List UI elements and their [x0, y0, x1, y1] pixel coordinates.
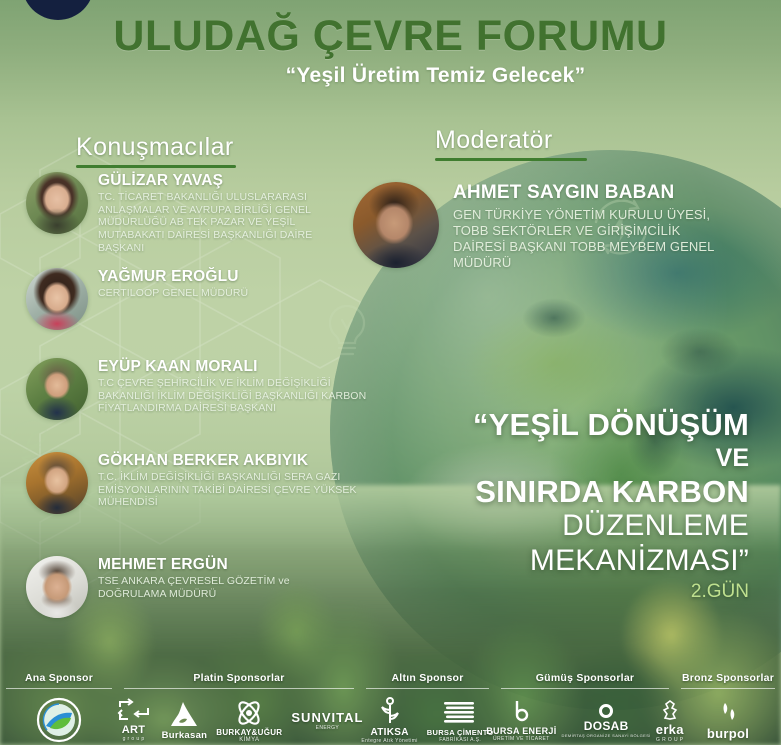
sponsor-name: burpol [707, 726, 749, 741]
speaker-name: YAĞMUR EROĞLU [98, 268, 248, 286]
sponsor-name: Burkasan [162, 730, 208, 741]
sponsor-logo-burkasan: Burkasan [162, 700, 208, 741]
avatar [26, 452, 88, 514]
divider [366, 688, 489, 689]
theme-line-3: SINIRDA KARBON [419, 474, 749, 509]
list-item: MEHMET ERGÜN TSE ANKARA ÇEVRESEL GÖZETİM… [26, 556, 356, 618]
avatar [353, 182, 439, 268]
forum-theme-block: “YEŞİL DÖNÜŞÜM VE SINIRDA KARBON DÜZENLE… [419, 408, 749, 603]
sponsor-sub: KİMYA [239, 737, 259, 743]
moderator-heading: Moderatör [435, 126, 587, 161]
page-title: ULUDAĞ ÇEVRE FORUMU [0, 14, 781, 59]
sponsor-logo-en-yesil-cevre [36, 697, 82, 743]
speaker-title: TSE ANKARA ÇEVRESEL GÖZETİM ve DOĞRULAMA… [98, 575, 356, 601]
sponsor-logo-bursa-enerji: BURSA ENERJİ ÜRETİM VE TİCARET [486, 698, 556, 742]
sponsor-name: DOSAB [584, 719, 629, 733]
avatar [26, 556, 88, 618]
speaker-title: TC. TİCARET BAKANLIĞI ULUSLARARASI ANLAŞ… [98, 191, 342, 255]
recycle-arrows-icon [115, 698, 153, 724]
theme-line-5: MEKANİZMASI” [419, 544, 749, 579]
person-plant-icon [377, 697, 403, 727]
dosab-mark-icon [597, 703, 615, 719]
divider [681, 688, 775, 689]
divider [124, 688, 354, 689]
sponsor-group-gumus: Gümüş Sponsorlar BURSA ENERJİ ÜRETİM VE … [495, 667, 675, 745]
avatar [26, 358, 88, 420]
sponsor-logo-burpol: burpol [707, 700, 749, 741]
theme-line-4: DÜZENLEME [419, 509, 749, 544]
list-item: GÜLİZAR YAVAŞ TC. TİCARET BAKANLIĞI ULUS… [26, 172, 342, 255]
stacked-bars-icon [440, 698, 480, 728]
sponsor-group-label: Altın Sponsor [360, 672, 495, 684]
speaker-name: EYÜP KAAN MORALI [98, 358, 372, 376]
sponsor-logo-burkay-ugur-kimya: BURKAY&UĞUR KİMYA [216, 698, 282, 743]
globe-leaf-logo-icon [36, 697, 82, 743]
sponsor-group-label: Bronz Sponsorlar [675, 672, 781, 684]
poster-header: ULUDAĞ ÇEVRE FORUMU “Yeşil Üretim Temiz … [0, 14, 781, 88]
sponsor-name: ART [122, 724, 146, 736]
speaker-name: GÜLİZAR YAVAŞ [98, 172, 342, 190]
speaker-title: T.C. İKLİM DEĞİŞİKLİĞİ BAŞKANLIĞI SERA G… [98, 471, 378, 509]
sponsor-logo-art-group: ART g r o u p [115, 698, 153, 742]
divider [6, 688, 112, 689]
speaker-title: T.C ÇEVRE ŞEHİRCİLİK VE İKLİM DEĞİŞİKLİĞ… [98, 377, 372, 415]
list-item: YAĞMUR EROĞLU CERTILOOP GENEL MÜDÜRÜ [26, 268, 342, 330]
atom-icon [231, 698, 267, 728]
sponsor-logo-sunvital: SUNVITAL ENERGY [291, 710, 363, 731]
poster-canvas: ULUDAĞ ÇEVRE FORUMU “Yeşil Üretim Temiz … [0, 0, 781, 745]
speaker-name: MEHMET ERGÜN [98, 556, 356, 574]
sponsor-group-platin: Platin Sponsorlar ART g r o u p [118, 667, 360, 745]
sponsor-sub: FABRİKASI A.Ş. [439, 737, 481, 743]
sponsor-logo-dosab: DOSAB DEMİRTAŞ ORGANİZE SANAYİ BÖLGESİ [562, 703, 651, 738]
double-leaf-icon [716, 700, 740, 726]
sponsor-sub: Entegre Atık Yönetimi [361, 738, 417, 744]
mountain-icon [167, 700, 201, 730]
sponsor-logo-atiksa: ATIKSA Entegre Atık Yönetimi [361, 697, 417, 744]
divider [501, 688, 669, 689]
sponsor-sub: ENERGY [316, 725, 340, 731]
sponsor-group-ana: Ana Sponsor [0, 667, 118, 745]
sponsor-bar: Ana Sponsor Platin Sponsorlar [0, 667, 781, 745]
page-subtitle: “Yeşil Üretim Temiz Gelecek” [0, 64, 781, 88]
sponsor-name: BURSA ENERJİ [486, 726, 556, 736]
sponsor-group-label: Gümüş Sponsorlar [495, 672, 675, 684]
speakers-heading: Konuşmacılar [76, 133, 236, 168]
day-badge: 2.GÜN [419, 581, 749, 603]
sponsor-sub: g r o u p [123, 736, 145, 742]
moderator-title: GEN TÜRKİYE YÖNETİM KURULU ÜYESİ, TOBB S… [453, 207, 733, 271]
sponsor-sub: ÜRETİM VE TİCARET [493, 736, 550, 742]
sponsor-name: BURKAY&UĞUR [216, 728, 282, 737]
sponsor-logo-bursa-cimento: BURSA ÇİMENTO FABRİKASI A.Ş. [427, 698, 494, 743]
list-item: EYÜP KAAN MORALI T.C ÇEVRE ŞEHİRCİLİK VE… [26, 358, 372, 420]
sponsor-name: BURSA ÇİMENTO [427, 728, 494, 737]
theme-line-1: “YEŞİL DÖNÜŞÜM [419, 408, 749, 443]
moderator-item: AHMET SAYGIN BABAN GEN TÜRKİYE YÖNETİM K… [353, 182, 733, 271]
theme-line-2: VE [419, 443, 749, 474]
avatar [26, 172, 88, 234]
moderator-name: AHMET SAYGIN BABAN [453, 182, 733, 205]
sponsor-group-label: Platin Sponsorlar [118, 672, 360, 684]
sponsor-group-bronz: Bronz Sponsorlar burpol [675, 667, 781, 745]
sponsor-sub: DEMİRTAŞ ORGANİZE SANAYİ BÖLGESİ [562, 733, 651, 738]
sponsor-group-label: Ana Sponsor [0, 672, 118, 684]
speaker-title: CERTILOOP GENEL MÜDÜRÜ [98, 287, 248, 300]
avatar [26, 268, 88, 330]
sponsor-group-altin: Altın Sponsor ATIKSA Entegre Atık Yöneti… [360, 667, 495, 745]
sponsor-name: ATIKSA [370, 727, 408, 738]
sponsor-name: SUNVITAL [291, 710, 363, 725]
speaker-name: GÖKHAN BERKER AKBIYIK [98, 452, 378, 470]
list-item: GÖKHAN BERKER AKBIYIK T.C. İKLİM DEĞİŞİK… [26, 452, 378, 514]
b-spiral-icon [509, 698, 533, 726]
